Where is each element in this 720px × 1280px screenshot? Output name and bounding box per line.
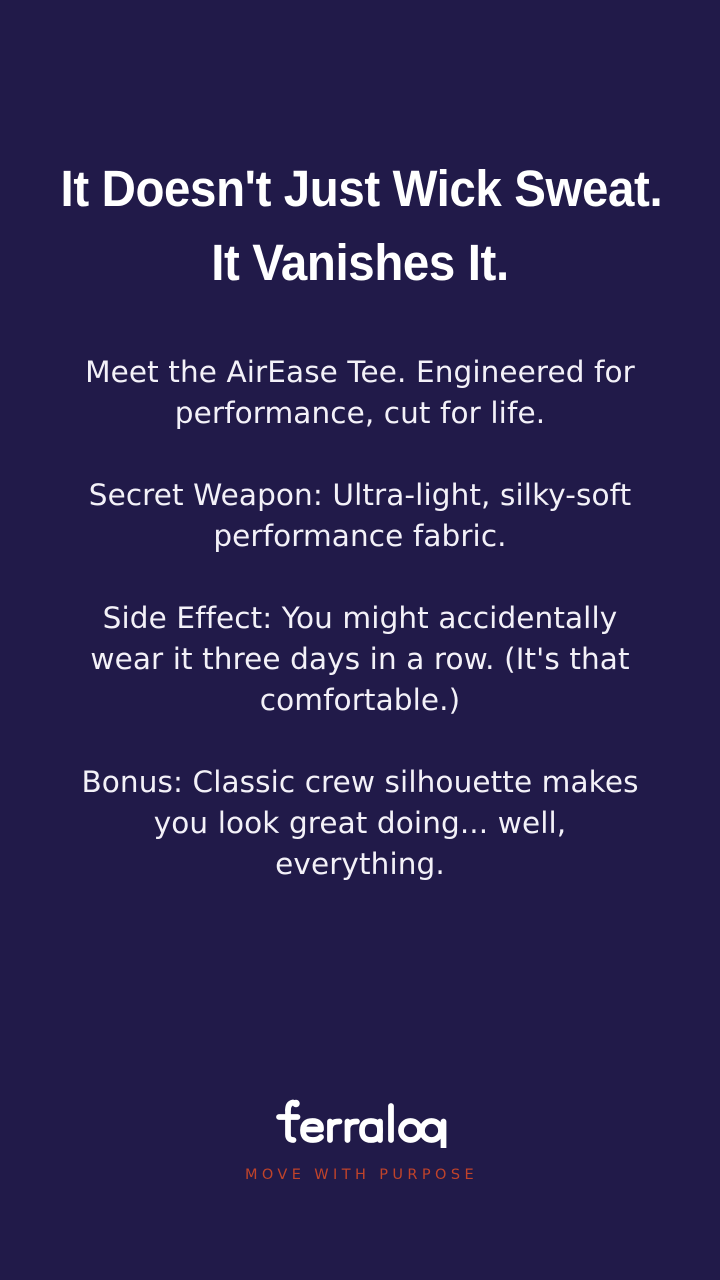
ad-creative: It Doesn't Just Wick Sweat. It Vanishes … [0,0,720,1280]
headline-line-1: It Doesn't Just Wick Sweat. [61,152,660,226]
terraloop-sprout-wordmark-icon [275,1098,447,1148]
body-paragraph: Meet the AirEase Tee. Engineered for per… [68,352,652,434]
body-paragraph: Bonus: Classic crew silhouette makes you… [68,762,652,885]
headline: It Doesn't Just Wick Sweat. It Vanishes … [0,152,720,300]
footer: MOVE WITH PURPOSE [0,1098,720,1183]
body-copy: Meet the AirEase Tee. Engineered for per… [0,352,720,885]
sprout-dot-icon [292,1100,300,1108]
brand-tagline: MOVE WITH PURPOSE [245,1167,478,1183]
brand-logo [275,1098,447,1148]
body-paragraph: Side Effect: You might accidentally wear… [68,598,652,721]
body-paragraph: Secret Weapon: Ultra-light, silky-soft p… [68,475,652,557]
headline-line-2: It Vanishes It. [61,226,660,300]
